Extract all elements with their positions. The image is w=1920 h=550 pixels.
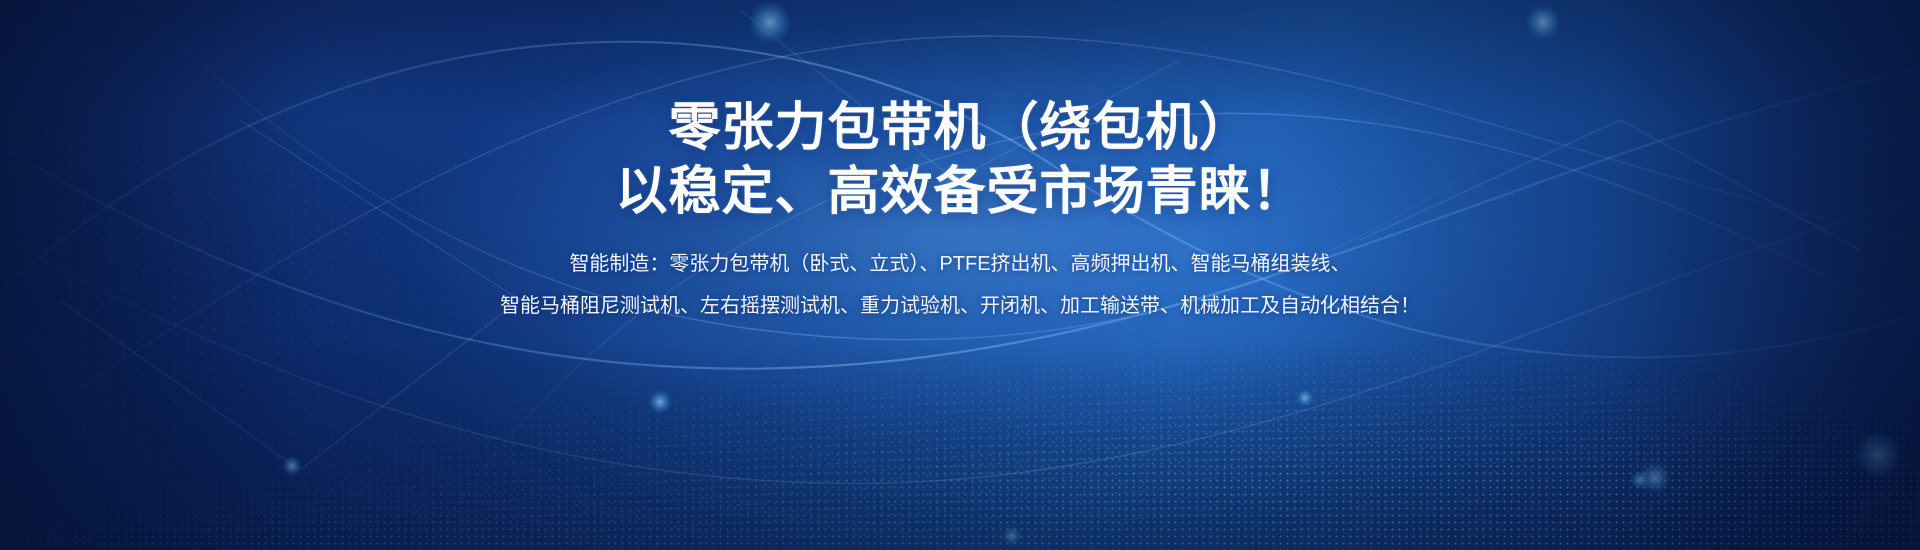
- network-curve: [0, 42, 1920, 369]
- hero-banner: 零张力包带机（绕包机） 以稳定、高效备受市场青睐！ 智能制造：零张力包带机（卧式…: [0, 0, 1920, 550]
- network-curve-faint: [0, 0, 1920, 550]
- banner-title-line-1: 零张力包带机（绕包机）: [668, 98, 1251, 158]
- particle-wave-mesh: [0, 260, 1920, 550]
- banner-content: 零张力包带机（绕包机） 以稳定、高效备受市场青睐！ 智能制造：零张力包带机（卧式…: [0, 0, 1920, 550]
- banner-title-line-2: 以稳定、高效备受市场青睐！: [615, 162, 1304, 222]
- banner-subtitle-line-2: 智能马桶阻尼测试机、左右摇摆测试机、重力试验机、开闭机、加工输送带、机械加工及自…: [500, 294, 1420, 318]
- background-network-decoration: [0, 0, 1920, 550]
- dot-field-decoration: [0, 120, 760, 550]
- network-node-group: [174, 0, 1902, 550]
- banner-subtitle-line-1: 智能制造：零张力包带机（卧式、立式）、PTFE挤出机、高频押出机、智能马桶组装线…: [569, 252, 1350, 276]
- tech-grid-lines: [120, 0, 1750, 470]
- particle-wave-secondary: [0, 234, 1920, 550]
- center-glow: [385, 16, 1535, 446]
- edge-vignette: [0, 0, 1920, 550]
- network-connector: [60, 10, 1860, 470]
